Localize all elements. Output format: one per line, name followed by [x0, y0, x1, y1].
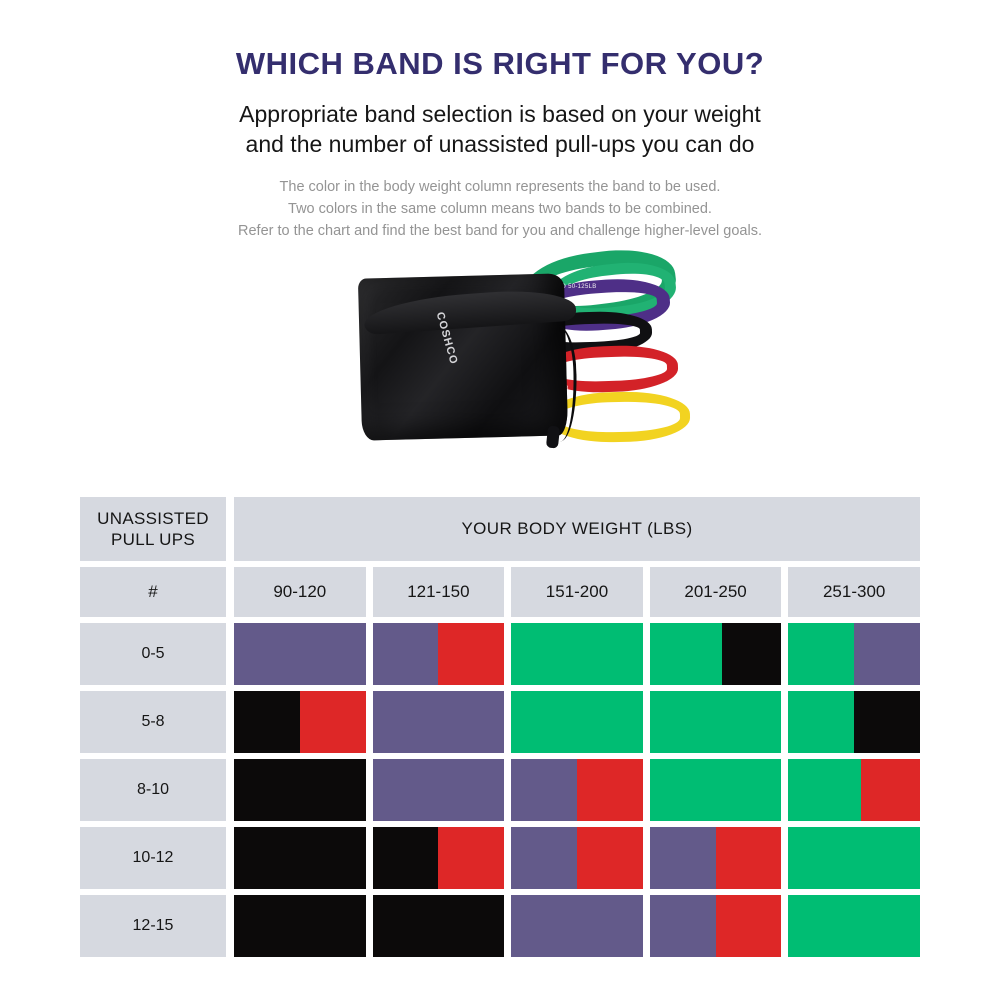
- row-cells: [234, 623, 920, 685]
- band-swatch-black: [854, 691, 920, 753]
- row-gap: [226, 691, 234, 753]
- band-swatch-green: [650, 623, 722, 685]
- infographic-page: WHICH BAND IS RIGHT FOR YOU? Appropriate…: [0, 0, 1000, 1000]
- row-cells: [234, 691, 920, 753]
- band-swatch-green: [650, 759, 782, 821]
- subtitle-line-1: Appropriate band selection is based on y…: [0, 99, 1000, 130]
- row-label-1: 0-5: [80, 623, 226, 685]
- table-column-header-row: # 90-120121-150151-200201-250251-300: [80, 567, 920, 617]
- band-swatch-black: [722, 623, 781, 685]
- band-selection-table: UNASSISTED PULL UPS YOUR BODY WEIGHT (LB…: [80, 497, 920, 957]
- band-cell-r2-c2: [373, 691, 505, 753]
- band-swatch-green: [788, 895, 920, 957]
- band-cell-r3-c1: [234, 759, 366, 821]
- product-photo-area: COSHCO 50-125LB 40-80LB 30-60LB 15-35LB …: [0, 250, 1000, 480]
- row-gap: [226, 759, 234, 821]
- band-cell-r2-c1: [234, 691, 366, 753]
- table-group-header-row: UNASSISTED PULL UPS YOUR BODY WEIGHT (LB…: [80, 497, 920, 561]
- band-swatch-green: [788, 691, 854, 753]
- column-header-1: 90-120: [234, 567, 366, 617]
- band-swatch-black: [373, 895, 505, 957]
- band-cell-r1-c4: [650, 623, 782, 685]
- band-cell-r1-c3: [511, 623, 643, 685]
- table-row: 12-15: [80, 895, 920, 957]
- column-group-header: YOUR BODY WEIGHT (LBS): [234, 497, 920, 561]
- band-cell-r3-c4: [650, 759, 782, 821]
- note-line-3: Refer to the chart and find the best ban…: [0, 220, 1000, 242]
- band-cell-r1-c1: [234, 623, 366, 685]
- note-line-1: The color in the body weight column repr…: [0, 176, 1000, 198]
- band-cell-r2-c3: [511, 691, 643, 753]
- band-swatch-black: [234, 691, 300, 753]
- band-cell-r3-c5: [788, 759, 920, 821]
- band-swatch-red: [438, 827, 504, 889]
- band-cell-r4-c5: [788, 827, 920, 889]
- column-header-4: 201-250: [650, 567, 782, 617]
- band-cell-r5-c4: [650, 895, 782, 957]
- row-label-5: 12-15: [80, 895, 226, 957]
- row-axis-header-line-1: UNASSISTED: [97, 508, 209, 529]
- band-cell-r3-c2: [373, 759, 505, 821]
- band-swatch-green: [788, 759, 860, 821]
- band-swatch-green: [511, 691, 643, 753]
- header-gap: [226, 497, 234, 561]
- band-swatch-purple: [650, 895, 716, 957]
- band-cell-r4-c3: [511, 827, 643, 889]
- band-swatch-black: [373, 827, 439, 889]
- band-cell-r1-c2: [373, 623, 505, 685]
- row-label-4: 10-12: [80, 827, 226, 889]
- band-cell-r2-c5: [788, 691, 920, 753]
- row-gap: [226, 827, 234, 889]
- band-swatch-red: [861, 759, 920, 821]
- column-header-5: 251-300: [788, 567, 920, 617]
- page-title: WHICH BAND IS RIGHT FOR YOU?: [0, 46, 1000, 82]
- row-label-2: 5-8: [80, 691, 226, 753]
- band-swatch-purple: [373, 623, 439, 685]
- band-swatch-red: [577, 827, 643, 889]
- band-swatch-purple: [511, 895, 643, 957]
- band-swatch-green: [511, 623, 643, 685]
- band-swatch-black: [234, 895, 366, 957]
- table-row: 8-10: [80, 759, 920, 821]
- band-swatch-black: [234, 827, 366, 889]
- band-swatch-red: [300, 691, 366, 753]
- band-cell-r4-c2: [373, 827, 505, 889]
- row-gap: [226, 623, 234, 685]
- header: WHICH BAND IS RIGHT FOR YOU? Appropriate…: [0, 0, 1000, 242]
- row-cells: [234, 827, 920, 889]
- column-header-3: 151-200: [511, 567, 643, 617]
- notes: The color in the body weight column repr…: [0, 176, 1000, 242]
- band-swatch-green: [650, 691, 782, 753]
- note-line-2: Two colors in the same column means two …: [0, 198, 1000, 220]
- bag-cord-toggle: [546, 426, 560, 449]
- row-gap: [226, 895, 234, 957]
- band-cell-r5-c2: [373, 895, 505, 957]
- unit-symbol-cell: #: [80, 567, 226, 617]
- subtitle-line-2: and the number of unassisted pull-ups yo…: [0, 129, 1000, 160]
- band-swatch-red: [716, 895, 782, 957]
- column-header-2: 121-150: [373, 567, 505, 617]
- row-cells: [234, 759, 920, 821]
- band-swatch-red: [577, 759, 643, 821]
- band-swatch-purple: [373, 691, 505, 753]
- table-row: 0-5: [80, 623, 920, 685]
- table-row: 10-12: [80, 827, 920, 889]
- row-axis-header-line-2: PULL UPS: [97, 529, 209, 550]
- band-swatch-green: [788, 827, 920, 889]
- band-swatch-purple: [373, 759, 505, 821]
- row-axis-header: UNASSISTED PULL UPS: [80, 497, 226, 561]
- band-swatch-purple: [650, 827, 716, 889]
- row-cells: [234, 895, 920, 957]
- row-label-3: 8-10: [80, 759, 226, 821]
- carry-bag: COSHCO: [358, 274, 568, 441]
- band-swatch-red: [716, 827, 782, 889]
- band-cell-r4-c1: [234, 827, 366, 889]
- band-cell-r2-c4: [650, 691, 782, 753]
- band-swatch-green: [788, 623, 854, 685]
- band-cell-r3-c3: [511, 759, 643, 821]
- table-row: 5-8: [80, 691, 920, 753]
- column-headers: 90-120121-150151-200201-250251-300: [234, 567, 920, 617]
- band-cell-r5-c1: [234, 895, 366, 957]
- band-cell-r4-c4: [650, 827, 782, 889]
- band-swatch-purple: [234, 623, 366, 685]
- band-cell-r1-c5: [788, 623, 920, 685]
- band-cell-r5-c5: [788, 895, 920, 957]
- subtitle: Appropriate band selection is based on y…: [0, 99, 1000, 161]
- band-swatch-purple: [511, 827, 577, 889]
- header-gap: [226, 567, 234, 617]
- band-cell-r5-c3: [511, 895, 643, 957]
- table-body: 0-55-88-1010-1212-15: [80, 623, 920, 957]
- band-swatch-black: [234, 759, 366, 821]
- band-swatch-red: [438, 623, 504, 685]
- band-swatch-purple: [854, 623, 920, 685]
- band-swatch-purple: [511, 759, 577, 821]
- product-photo: COSHCO 50-125LB 40-80LB 30-60LB 15-35LB …: [352, 250, 708, 478]
